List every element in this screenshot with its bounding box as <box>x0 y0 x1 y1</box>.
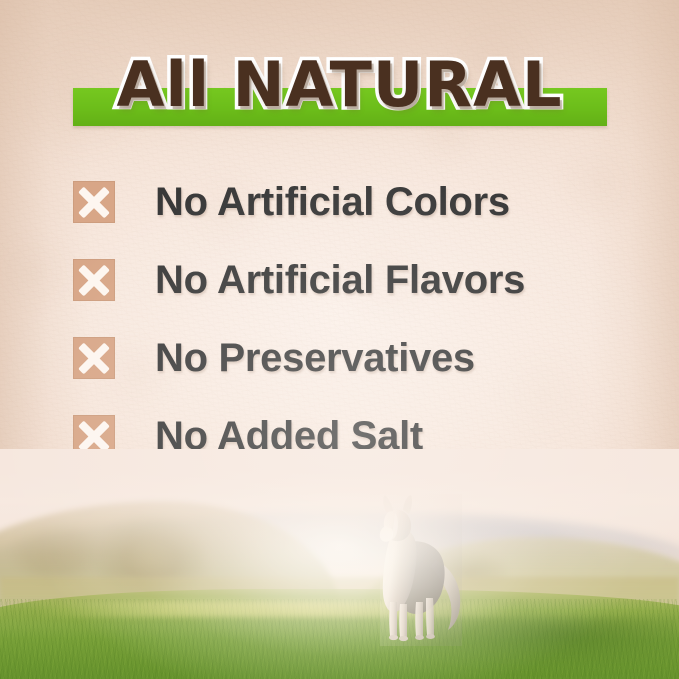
list-item: No Artificial Colors <box>73 181 613 259</box>
page-title: All NATURAL <box>0 48 679 122</box>
x-mark-icon <box>73 259 115 301</box>
x-mark-icon <box>73 181 115 223</box>
claim-label: No Artificial Colors <box>155 177 510 227</box>
claim-label: No Artificial Flavors <box>155 255 525 305</box>
lifestyle-photo <box>0 449 679 679</box>
list-item: No Artificial Flavors <box>73 259 613 337</box>
headline-banner: All NATURAL <box>0 48 679 132</box>
claim-label: No Preservatives <box>155 333 475 383</box>
list-item: No Preservatives <box>73 337 613 415</box>
border-collie-dog <box>362 494 470 646</box>
claims-list: No Artificial Colors No Artificial Flavo… <box>73 181 613 493</box>
blurred-shrub-far-left <box>8 521 104 583</box>
product-claims-poster: All NATURAL No Artificial Colors No Arti… <box>0 0 679 679</box>
x-mark-icon <box>73 337 115 379</box>
